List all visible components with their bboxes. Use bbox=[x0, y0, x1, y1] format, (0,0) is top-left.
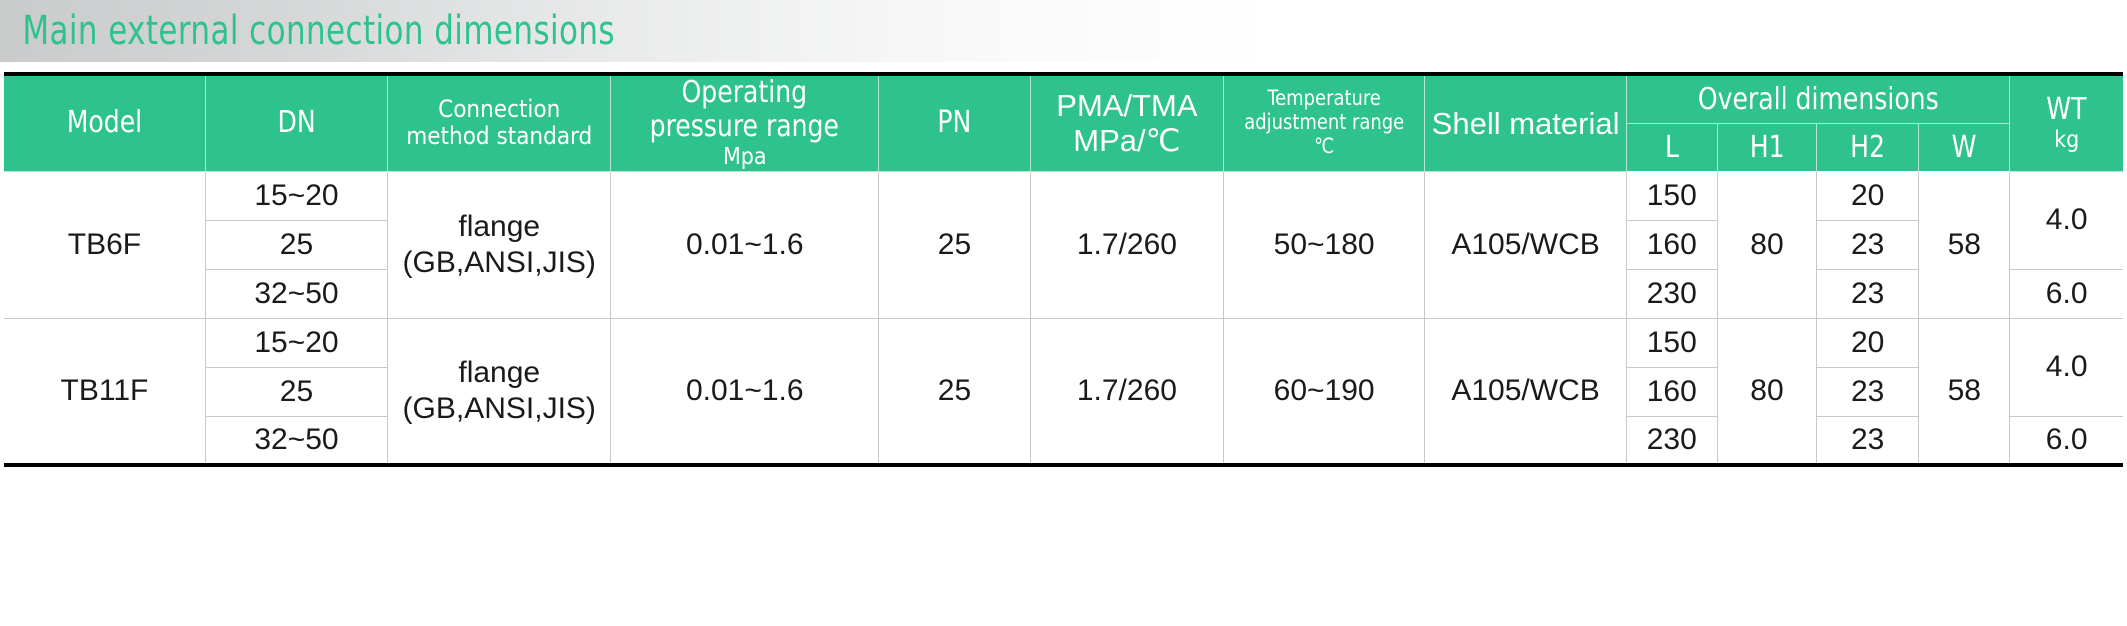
col-header-w: W bbox=[1919, 124, 2010, 171]
col-header-pressure-line2: pressure range bbox=[621, 110, 869, 144]
col-header-h1: H1 bbox=[1717, 124, 1816, 171]
cell-l: 230 bbox=[1626, 269, 1717, 318]
cell-h2: 23 bbox=[1817, 220, 1919, 269]
cell-model: TB6F bbox=[4, 171, 205, 318]
cell-connection-line2: (GB,ANSI,JIS) bbox=[403, 246, 596, 279]
header-row-primary: Model DN Connection method standard Oper… bbox=[4, 74, 2123, 124]
cell-h1: 80 bbox=[1717, 171, 1816, 318]
col-header-operating-pressure: Operating pressure range Mpa bbox=[611, 74, 879, 171]
cell-dn: 32~50 bbox=[205, 416, 387, 465]
cell-pn: 25 bbox=[879, 318, 1031, 465]
cell-pn: 25 bbox=[879, 171, 1031, 318]
table-row: TB6F15~20flange(GB,ANSI,JIS)0.01~1.6251.… bbox=[4, 171, 2123, 220]
cell-wt: 6.0 bbox=[2010, 416, 2123, 465]
col-header-temp-line2: adjustment range bbox=[1229, 111, 1419, 135]
col-header-overall-dimensions-label: Overall dimensions bbox=[1640, 83, 1996, 117]
col-header-w-label: W bbox=[1922, 131, 2006, 165]
main-external-connection-dimensions-table: Model DN Connection method standard Oper… bbox=[4, 72, 2123, 467]
cell-w: 58 bbox=[1919, 318, 2010, 465]
cell-wt: 4.0 bbox=[2010, 171, 2123, 269]
col-header-l: L bbox=[1626, 124, 1717, 171]
col-header-model: Model bbox=[4, 74, 205, 171]
col-header-pma-tma-line1: PMA/TMA bbox=[1031, 88, 1223, 123]
cell-wt: 4.0 bbox=[2010, 318, 2123, 416]
cell-connection-line1: flange bbox=[458, 210, 540, 243]
col-header-shell-material: Shell material bbox=[1425, 74, 1626, 171]
cell-pressure-range: 0.01~1.6 bbox=[611, 171, 879, 318]
cell-pma-tma: 1.7/260 bbox=[1030, 318, 1223, 465]
col-header-pn: PN bbox=[879, 74, 1031, 171]
cell-h2: 23 bbox=[1817, 367, 1919, 416]
cell-h2: 20 bbox=[1817, 318, 1919, 367]
col-header-pma-tma: PMA/TMA MPa/℃ bbox=[1030, 74, 1223, 171]
cell-temperature-range: 60~190 bbox=[1223, 318, 1424, 465]
col-header-temperature-adjustment-range: Temperature adjustment range ℃ bbox=[1223, 74, 1424, 171]
col-header-connection-method: Connection method standard bbox=[388, 74, 611, 171]
cell-l: 230 bbox=[1626, 416, 1717, 465]
cell-l: 160 bbox=[1626, 367, 1717, 416]
table-header: Model DN Connection method standard Oper… bbox=[4, 74, 2123, 171]
cell-connection-method: flange(GB,ANSI,JIS) bbox=[388, 318, 611, 465]
cell-h1: 80 bbox=[1717, 318, 1816, 465]
cell-connection-line1: flange bbox=[458, 356, 540, 389]
title-spacer bbox=[0, 62, 2127, 72]
col-header-l-label: L bbox=[1630, 131, 1714, 165]
cell-model: TB11F bbox=[4, 318, 205, 465]
col-header-overall-dimensions: Overall dimensions bbox=[1626, 74, 2010, 124]
cell-dn: 15~20 bbox=[205, 318, 387, 367]
col-header-connection-line2: method standard bbox=[388, 123, 610, 150]
cell-pressure-range: 0.01~1.6 bbox=[611, 318, 879, 465]
cell-dn: 25 bbox=[205, 367, 387, 416]
cell-h2: 23 bbox=[1817, 416, 1919, 465]
cell-dn: 32~50 bbox=[205, 269, 387, 318]
cell-shell-material: A105/WCB bbox=[1425, 171, 1626, 318]
col-header-pressure-unit: Mpa bbox=[611, 144, 878, 170]
page-title: Main external connection dimensions bbox=[0, 8, 615, 54]
cell-w: 58 bbox=[1919, 171, 2010, 318]
col-header-pn-label: PN bbox=[884, 106, 1024, 140]
col-header-connection-line1: Connection bbox=[388, 96, 610, 123]
col-header-h2-label: H2 bbox=[1821, 131, 1915, 165]
col-header-wt-unit: kg bbox=[2010, 127, 2123, 153]
col-header-wt: WT kg bbox=[2010, 74, 2123, 171]
table-body: TB6F15~20flange(GB,ANSI,JIS)0.01~1.6251.… bbox=[4, 171, 2123, 465]
section-title-banner: Main external connection dimensions bbox=[0, 0, 2127, 62]
table-row: TB11F15~20flange(GB,ANSI,JIS)0.01~1.6251… bbox=[4, 318, 2123, 367]
cell-dn: 25 bbox=[205, 220, 387, 269]
col-header-shell-material-label: Shell material bbox=[1425, 106, 1625, 141]
cell-wt: 6.0 bbox=[2010, 269, 2123, 318]
cell-l: 150 bbox=[1626, 171, 1717, 220]
cell-l: 160 bbox=[1626, 220, 1717, 269]
cell-connection-line2: (GB,ANSI,JIS) bbox=[403, 392, 596, 425]
cell-h2: 23 bbox=[1817, 269, 1919, 318]
cell-l: 150 bbox=[1626, 318, 1717, 367]
col-header-pma-tma-line2: MPa/℃ bbox=[1031, 123, 1223, 158]
col-header-temp-unit: ℃ bbox=[1229, 135, 1419, 159]
dimensions-table-wrapper: Model DN Connection method standard Oper… bbox=[0, 72, 2127, 467]
col-header-h1-label: H1 bbox=[1721, 131, 1812, 165]
cell-connection-method: flange(GB,ANSI,JIS) bbox=[388, 171, 611, 318]
col-header-dn-label: DN bbox=[212, 106, 380, 140]
cell-pma-tma: 1.7/260 bbox=[1030, 171, 1223, 318]
col-header-wt-label: WT bbox=[2014, 93, 2119, 127]
col-header-pressure-line1: Operating bbox=[621, 76, 869, 110]
col-header-temp-line1: Temperature bbox=[1229, 87, 1419, 111]
col-header-model-label: Model bbox=[11, 106, 198, 140]
cell-h2: 20 bbox=[1817, 171, 1919, 220]
cell-temperature-range: 50~180 bbox=[1223, 171, 1424, 318]
col-header-dn: DN bbox=[205, 74, 387, 171]
cell-shell-material: A105/WCB bbox=[1425, 318, 1626, 465]
col-header-h2: H2 bbox=[1817, 124, 1919, 171]
cell-dn: 15~20 bbox=[205, 171, 387, 220]
